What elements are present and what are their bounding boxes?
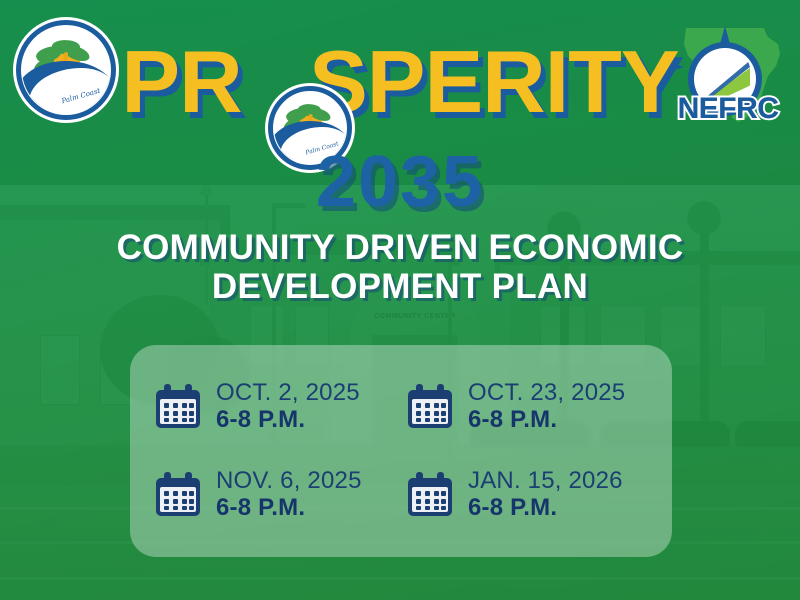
poster-canvas: COMMUNITY CENTER — [0, 0, 800, 600]
meeting-item: OCT. 23, 2025 6-8 P.M. — [404, 363, 656, 451]
meeting-time: 6-8 P.M. — [468, 495, 623, 522]
meeting-item: OCT. 2, 2025 6-8 P.M. — [152, 363, 404, 451]
meeting-item: JAN. 15, 2026 6-8 P.M. — [404, 451, 656, 539]
meeting-date: JAN. 15, 2026 — [468, 468, 623, 495]
calendar-icon — [404, 381, 456, 433]
subtitle: COMMUNITY DRIVEN ECONOMIC DEVELOPMENT PL… — [0, 228, 800, 306]
meeting-date: NOV. 6, 2025 — [216, 468, 362, 495]
title-part-after-o: SPERITY — [309, 32, 679, 131]
subtitle-line-1: COMMUNITY DRIVEN ECONOMIC — [0, 228, 800, 267]
page-title: PROSPERITY — [0, 38, 800, 126]
meeting-date: OCT. 2, 2025 — [216, 380, 360, 407]
title-part-before-o: PR — [121, 32, 241, 131]
title-block: PROSPERITY Palm Coast 2035 — [0, 38, 800, 198]
meeting-text: OCT. 2, 2025 6-8 P.M. — [216, 380, 360, 434]
meeting-text: JAN. 15, 2026 6-8 P.M. — [468, 468, 623, 522]
meeting-item: NOV. 6, 2025 6-8 P.M. — [152, 451, 404, 539]
meeting-date: OCT. 23, 2025 — [468, 380, 625, 407]
meeting-time: 6-8 P.M. — [216, 495, 362, 522]
meeting-time: 6-8 P.M. — [216, 407, 360, 434]
meeting-dates-grid: OCT. 2, 2025 6-8 P.M. — [130, 345, 672, 557]
meeting-dates-panel: OCT. 2, 2025 6-8 P.M. — [130, 345, 672, 557]
meeting-text: NOV. 6, 2025 6-8 P.M. — [216, 468, 362, 522]
calendar-icon — [152, 381, 204, 433]
title-year: 2035 — [0, 146, 800, 218]
meeting-time: 6-8 P.M. — [468, 407, 625, 434]
meeting-text: OCT. 23, 2025 6-8 P.M. — [468, 380, 625, 434]
calendar-icon — [152, 469, 204, 521]
subtitle-line-2: DEVELOPMENT PLAN — [0, 267, 800, 306]
calendar-icon — [404, 469, 456, 521]
